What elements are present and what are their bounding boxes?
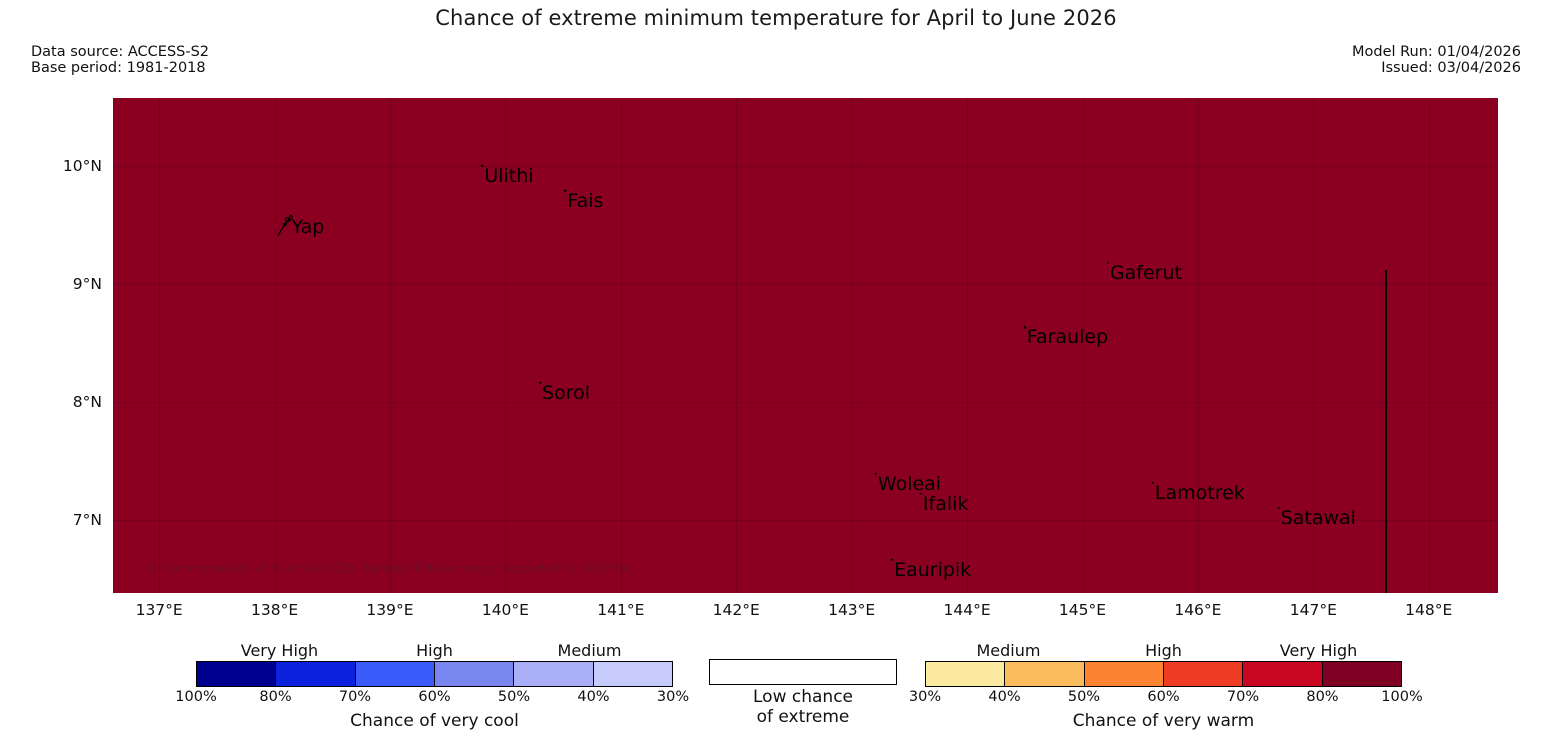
x-tick-label: 139°E — [366, 601, 413, 619]
warm-colorbar-caption: Chance of very warm — [925, 711, 1402, 731]
gridline-horizontal — [113, 284, 1498, 285]
place-label-sorol: Sorol — [542, 382, 590, 404]
x-tick-label: 147°E — [1290, 601, 1337, 619]
coastline-path — [1385, 270, 1387, 593]
place-label-satawal: Satawal — [1281, 507, 1356, 529]
gridline-horizontal — [113, 402, 1498, 403]
base-period-label: Base period: 1981-2018 — [31, 60, 209, 76]
data-source-label: Data source: ACCESS-S2 — [31, 44, 209, 60]
x-tick-label: 146°E — [1174, 601, 1221, 619]
x-tick-label: 140°E — [482, 601, 529, 619]
cool-colorbar-strip[interactable] — [196, 661, 673, 687]
x-tick-label: 141°E — [597, 601, 644, 619]
cool-colorbar-segment[interactable] — [275, 662, 354, 686]
y-tick-label: 10°N — [102, 157, 141, 175]
y-tick-label: 7°N — [102, 511, 131, 529]
model-run-label: Model Run: 01/04/2026 — [1352, 44, 1521, 60]
y-tick-text: 9°N — [73, 275, 102, 293]
gridline-vertical — [621, 98, 622, 593]
place-marker-dot — [875, 472, 878, 475]
cool-category-label: Medium — [558, 641, 622, 660]
cool-colorbar-segment[interactable] — [434, 662, 513, 686]
y-tick-text: 10°N — [63, 157, 102, 175]
place-label-ifalik: Ifalik — [923, 493, 969, 515]
x-tick-label: 143°E — [828, 601, 875, 619]
place-label-lamotrek: Lamotrek — [1155, 482, 1245, 504]
cool-category-label: Very High — [241, 641, 318, 660]
cool-tick-label: 60% — [418, 689, 450, 705]
place-marker-dot — [1152, 482, 1155, 485]
map-plot-area[interactable]: YapUlithiFaisGaferutFaraulepSorolWoleaiI… — [113, 98, 1498, 593]
place-marker-dot — [564, 189, 567, 192]
y-tick-label: 9°N — [102, 275, 131, 293]
cool-colorbar-segment[interactable] — [355, 662, 434, 686]
cool-tick-label: 30% — [657, 689, 689, 705]
place-marker-dot — [481, 165, 484, 168]
x-tick-label: 144°E — [944, 601, 991, 619]
gridline-vertical — [967, 98, 968, 593]
cool-tick-label: 100% — [175, 689, 216, 705]
yap-island-outline — [275, 212, 297, 238]
place-label-fais: Fais — [567, 190, 603, 212]
x-tick-label: 137°E — [136, 601, 183, 619]
place-label-woleai: Woleai — [878, 473, 941, 495]
gridline-vertical — [159, 98, 160, 593]
warm-tick-label: 40% — [988, 689, 1020, 705]
cool-tick-label: 40% — [577, 689, 609, 705]
warm-tick-label: 50% — [1068, 689, 1100, 705]
low-chance-swatch[interactable] — [709, 659, 897, 685]
cool-tick-label: 80% — [259, 689, 291, 705]
warm-category-row: MediumHighVery High — [925, 640, 1402, 660]
place-marker-dot — [891, 558, 894, 561]
cool-colorbar-segment[interactable] — [513, 662, 592, 686]
warm-tick-label: 70% — [1227, 689, 1259, 705]
low-chance-caption: Low chance of extreme — [709, 687, 897, 727]
warm-tick-label: 30% — [909, 689, 941, 705]
cool-tick-row: 100%80%70%60%50%40%30% — [196, 689, 673, 709]
y-tick-text: 8°N — [73, 393, 102, 411]
cool-tick-label: 50% — [498, 689, 530, 705]
warm-category-label: Very High — [1280, 641, 1357, 660]
legend-low-chance[interactable]: Low chance of extreme — [709, 659, 897, 727]
warm-tick-row: 30%40%50%60%70%80%100% — [925, 689, 1402, 709]
x-tick-label: 138°E — [251, 601, 298, 619]
warm-colorbar-segment[interactable] — [1322, 662, 1401, 686]
y-tick-label: 8°N — [102, 393, 131, 411]
place-label-ulithi: Ulithi — [484, 165, 533, 187]
gridline-vertical — [852, 98, 853, 593]
gridline-vertical — [1429, 98, 1430, 593]
warm-colorbar-segment[interactable] — [1084, 662, 1163, 686]
warm-category-label: Medium — [976, 641, 1040, 660]
place-label-gaferut: Gaferut — [1110, 262, 1182, 284]
gridline-vertical — [275, 98, 276, 593]
place-label-eauripik: Eauripik — [894, 559, 971, 581]
copyright-notice: © Commonwealth of Australia 2026, Bureau… — [148, 561, 632, 575]
warm-colorbar-segment[interactable] — [1163, 662, 1242, 686]
warm-tick-label: 100% — [1381, 689, 1422, 705]
warm-tick-label: 80% — [1306, 689, 1338, 705]
warm-colorbar-segment[interactable] — [1242, 662, 1321, 686]
metadata-left: Data source: ACCESS-S2 Base period: 1981… — [31, 44, 209, 76]
cool-tick-label: 70% — [339, 689, 371, 705]
gridline-vertical — [1198, 98, 1199, 593]
legend-chance-very-warm[interactable]: MediumHighVery High 30%40%50%60%70%80%10… — [925, 640, 1402, 731]
place-marker-dot — [1107, 261, 1110, 264]
warm-category-label: High — [1145, 641, 1182, 660]
y-tick-text: 7°N — [73, 511, 102, 529]
cool-category-label: High — [416, 641, 453, 660]
cool-category-row: Very HighHighMedium — [196, 640, 673, 660]
warm-colorbar-segment[interactable] — [926, 662, 1004, 686]
place-marker-dot — [1024, 326, 1027, 329]
warm-colorbar-strip[interactable] — [925, 661, 1402, 687]
legend-chance-very-cool[interactable]: Very HighHighMedium 100%80%70%60%50%40%3… — [196, 640, 673, 731]
cool-colorbar-caption: Chance of very cool — [196, 711, 673, 731]
place-label-faraulep: Faraulep — [1027, 326, 1108, 348]
gridline-vertical — [390, 98, 391, 593]
gridline-horizontal — [113, 166, 1498, 167]
metadata-right: Model Run: 01/04/2026 Issued: 03/04/2026 — [1352, 44, 1521, 76]
x-tick-label: 142°E — [713, 601, 760, 619]
warm-tick-label: 60% — [1147, 689, 1179, 705]
cool-colorbar-segment[interactable] — [593, 662, 672, 686]
issued-label: Issued: 03/04/2026 — [1352, 60, 1521, 76]
place-marker-dot — [920, 492, 923, 495]
page-title: Chance of extreme minimum temperature fo… — [0, 6, 1552, 30]
x-tick-label: 148°E — [1405, 601, 1452, 619]
place-marker-dot — [1277, 506, 1280, 509]
gridline-vertical — [736, 98, 737, 593]
cool-colorbar-segment[interactable] — [197, 662, 275, 686]
x-tick-label: 145°E — [1059, 601, 1106, 619]
warm-colorbar-segment[interactable] — [1004, 662, 1083, 686]
place-marker-dot — [539, 382, 542, 385]
